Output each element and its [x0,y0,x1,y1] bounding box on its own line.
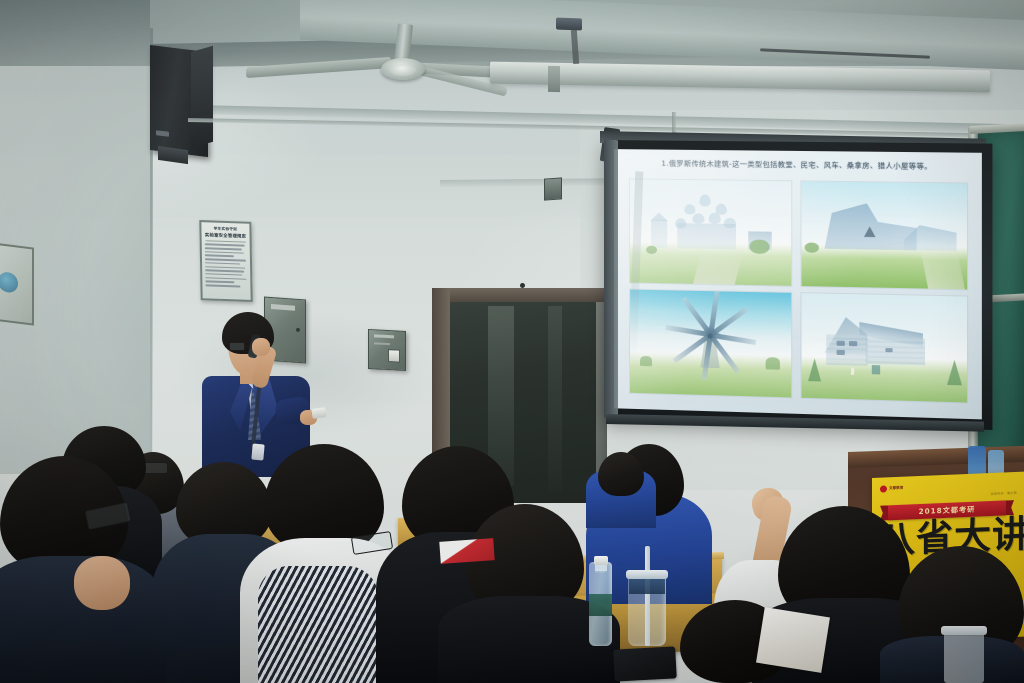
house-side-wall [865,338,925,365]
house-front-wall [826,334,867,366]
slide-image-church: 木结构教堂（基日岛式多穹顶教堂） [630,179,791,285]
notice-divider [206,241,246,243]
wall-notice-board: 学生实验守则 实验室安全管理规定 [199,220,252,302]
ceiling-fan-hub [390,64,416,76]
panel-label-plate [271,304,295,311]
handout-papers [756,607,830,673]
slide-image-log-house: 传统木屋（伊兹巴） [802,293,968,402]
door-icon [871,365,880,375]
onion-dome-icon [708,213,720,224]
student-back-blue-head [598,452,644,496]
bottle-cap [594,556,608,565]
projected-slide: 1.俄罗斯传统木建筑-这一类型包括教堂、民宅、风车、桑拿房、猎人小屋等等。 [614,149,982,419]
church-structure [665,194,752,249]
duct-joint [548,66,560,92]
slide-image-barn: 木结构谷仓与礼拜堂 [802,181,968,289]
banner-brand-text: 文都教育 [889,486,903,492]
bottle-label [589,594,612,616]
bell-tower [651,220,667,248]
banner-corner-note: 高端考研 · 集训营 [991,490,1017,496]
presenter-hand [252,338,270,356]
left-wall-control-box [0,242,34,325]
right-cup-lid [941,626,987,635]
cup-lid [626,570,668,579]
electrical-switch-panel [368,329,406,371]
control-box-dial-icon [0,271,18,293]
panel-label-line [374,342,390,345]
banner-logo: 文都教育 [880,485,903,493]
notice-body-lines [205,244,248,288]
door-light-streak [548,306,562,492]
panel-label-plate [374,334,394,338]
door-header [432,288,607,302]
cup-liquid [629,578,665,594]
figure-icon [851,367,855,375]
window-icon [849,341,857,346]
student-center-stripe-body [258,566,378,683]
tree-icon [765,357,780,370]
ceiling-light-fixture [556,18,582,31]
presenter-badge [251,444,264,461]
wall-speaker-face [191,46,213,148]
wall-socket [544,177,562,200]
window-icon [837,350,845,355]
screen-left-edge [604,140,618,418]
smartphone[interactable] [613,646,677,681]
slide-image-grid: 木结构教堂（基日岛式多穹顶教堂） 木结构谷仓与礼拜堂 [630,179,967,402]
projection-screen[interactable]: 1.俄罗斯传统木建筑-这一类型包括教堂、民宅、风车、桑拿房、猎人小屋等等。 [604,140,992,430]
window-icon [886,348,893,353]
watercolor-path [693,249,744,285]
red-paper [439,538,494,564]
right-drink-cup [944,630,984,683]
onion-dome-icon [684,204,695,215]
onion-dome-icon [700,195,711,207]
log-house-structure [824,317,927,378]
presentation-clicker-icon [311,407,326,419]
light-switch-icon[interactable] [388,349,400,363]
lecture-hall-photo: 学生实验守则 实验室安全管理规定 绿色黑板 [0,0,1024,683]
door-fixing-icon [520,283,525,288]
church-body [677,224,736,250]
tree-icon [640,356,653,367]
slide-image-windmill: 传统木风车 [630,290,791,398]
onion-dome-icon [692,213,704,224]
presenter-label: 主讲人 [196,312,197,313]
student-front-left-hand [74,556,130,610]
brand-mark-icon [880,485,887,492]
slide-title: 1.俄罗斯传统木建筑-这一类型包括教堂、民宅、风车、桑拿房、猎人小屋等等。 [614,158,982,172]
window-icon [837,340,845,345]
notice-subheader: 实验室安全管理规定 [205,233,247,240]
watercolor-path [919,246,964,289]
